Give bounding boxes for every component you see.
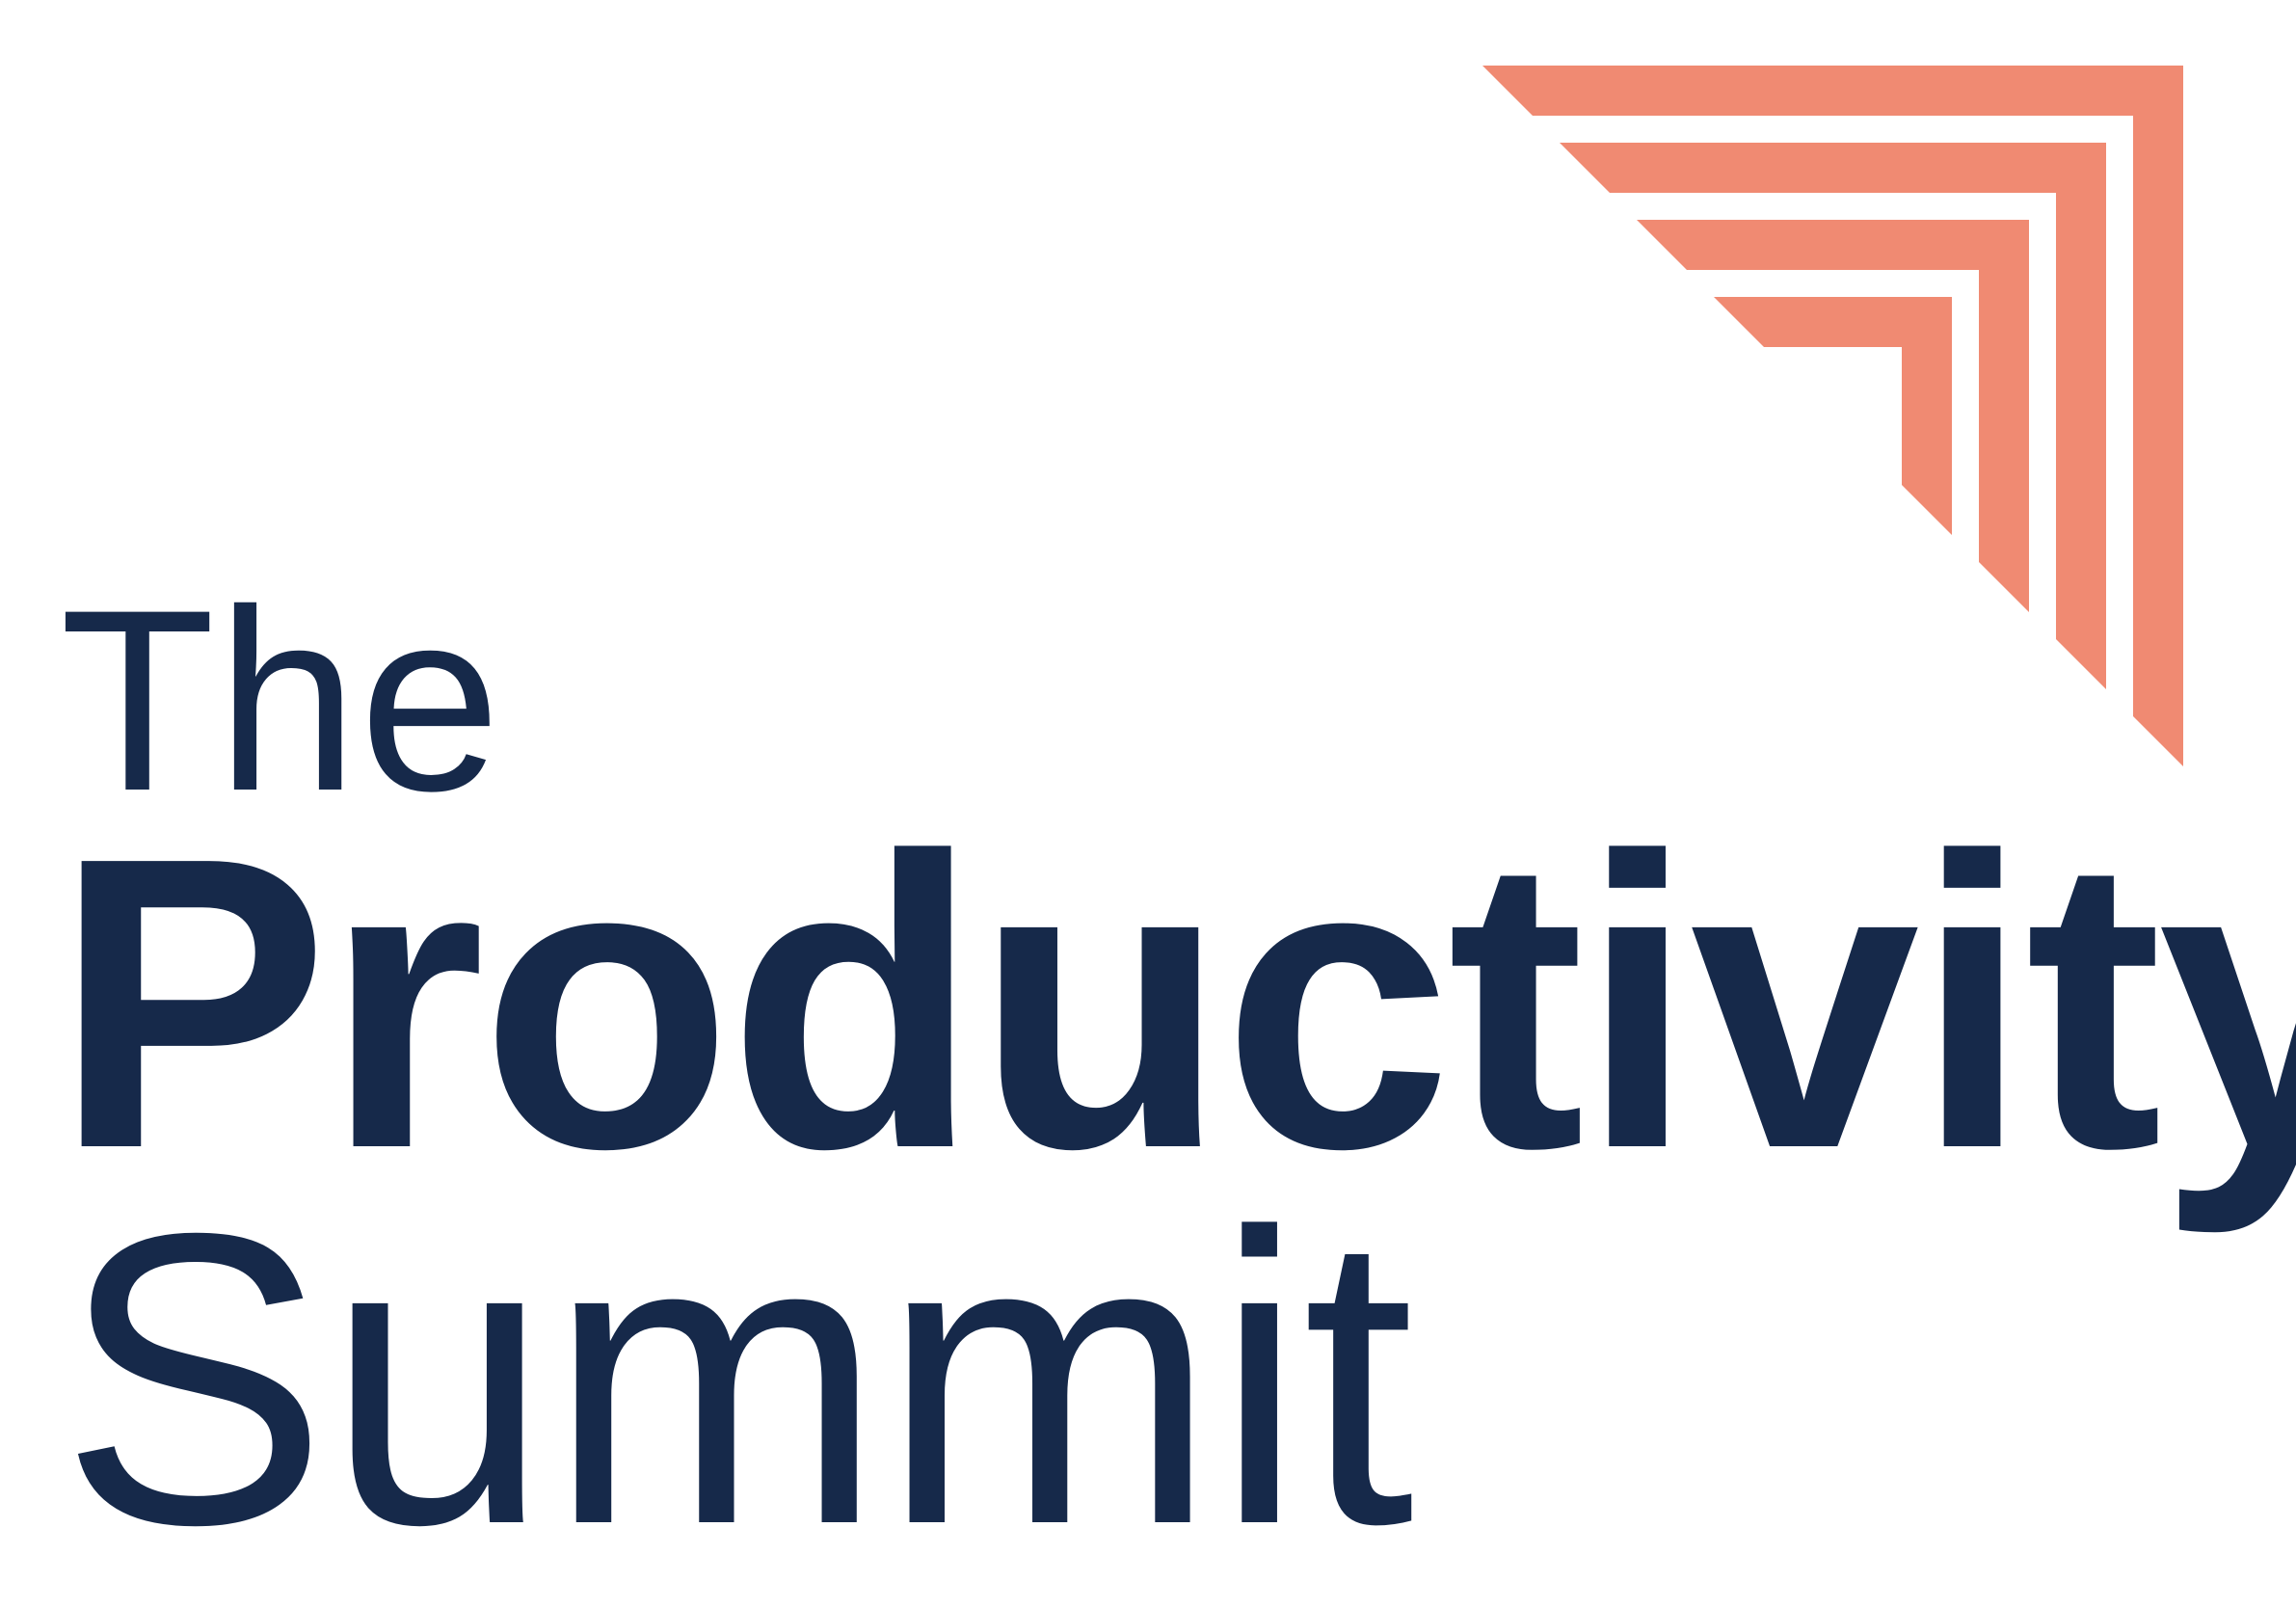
logo-canvas: The Productivity Summit bbox=[0, 0, 2296, 1608]
wordmark: The Productivity Summit bbox=[0, 0, 2296, 1608]
wordmark-line-summit: Summit bbox=[60, 1172, 1413, 1587]
